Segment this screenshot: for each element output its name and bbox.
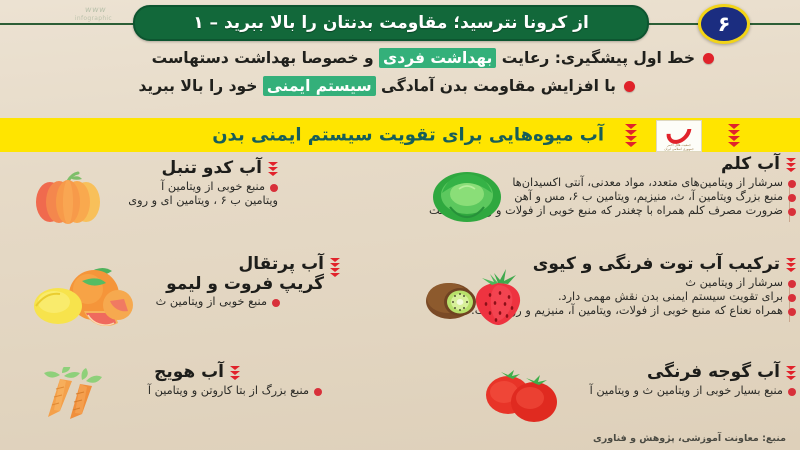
intro-bullet-1-text: خط اول پیشگیری: رعایت بهداشت فردی و خصوص… [152,49,695,67]
orange-grapefruit-lemon-illustration [22,261,142,335]
left-column: آب کدو تنبل منبع خوبی از ویتامین آ ویتام… [0,155,400,425]
section-pumpkin-bullet-2: ویتامین ب ۶ ، ویتامین ای و روی [128,194,278,208]
page-number-badge: ۶ [698,4,750,44]
watermark-line-1: www [84,5,106,14]
chevron-marker-icon [230,366,240,380]
section-tomato: آب گوجه فرنگی منبع بسیار خوبی از ویتامین… [400,363,800,398]
section-kiwi-bullet-2: برای تقویت سیستم ایمنی بدن نقش مهمی دارد… [558,290,783,304]
bullet-dot-icon [788,180,796,188]
section-tomato-title: آب گوجه فرنگی [647,363,780,383]
section-kiwi-title: ترکیب آب توت فرنگی و کیوی [533,255,780,275]
red-crescent-logo: جمعیت هلال احمر جمهوری اسلامی ایران [656,120,702,152]
cabbage-illustration [428,163,506,225]
pumpkin-illustration [28,169,112,227]
bullet-dot-icon [788,388,796,396]
logo-caption-2: جمهوری اسلامی ایران [664,147,694,151]
intro-1-part-a: خط اول پیشگیری: رعایت [496,49,695,67]
bullet-dot-icon [788,294,796,302]
chevron-marker-icon [330,258,340,277]
chevron-marker-icon [268,162,278,176]
section-cabbage: آب کلم سرشار از ویتامین‌های متعدد، مواد … [400,155,800,218]
chevron-marker-icon [786,158,796,172]
chevron-marker-icon [786,258,796,272]
section-citrus-title-line-1: آب پرتقال [166,255,324,275]
tomato-illustration [478,367,564,425]
section-tomato-bullet-1: منبع بسیار خوبی از ویتامین ث و ویتامین آ [590,384,783,398]
intro-2-highlight: سیستم ایمنی [263,76,376,96]
intro-bullet-2: با افزایش مقاومت بدن آمادگی سیستم ایمنی … [0,72,800,100]
section-pumpkin-bullet-1: منبع خوبی از ویتامین آ [161,180,265,194]
intro-bullet-1: خط اول پیشگیری: رعایت بهداشت فردی و خصوص… [0,44,800,72]
chevron-decoration-right [728,118,740,152]
carrot-illustration [30,367,120,423]
section-citrus-bullet-1: منبع خوبی از ویتامین ث [156,295,267,309]
header-banner: از کرونا نترسید؛ مقاومت بدنتان را بالا ب… [133,5,649,41]
intro-1-part-c: و خصوصا بهداشت دستهاست [152,49,379,67]
infographic-canvas: www infographic از کرونا نترسید؛ مقاومت … [0,0,800,450]
bullet-dot-icon [703,53,714,64]
content-area: آب کلم سرشار از ویتامین‌های متعدد، مواد … [0,155,800,425]
intro-2-part-a: با افزایش مقاومت بدن آمادگی [376,77,616,95]
page-title: از کرونا نترسید؛ مقاومت بدنتان را بالا ب… [193,13,589,33]
right-column: آب کلم سرشار از ویتامین‌های متعدد، مواد … [400,155,800,425]
section-pumpkin-title: آب کدو تنبل [162,159,262,179]
bullet-dot-icon [788,208,796,216]
section-citrus: آب پرتقال گریپ فروت و لیمو منبع خوبی از … [0,255,400,309]
bullet-dot-icon [314,388,322,396]
intro-2-part-c: خود را بالا ببرید [138,77,262,95]
list-item: منبع بسیار خوبی از ویتامین ث و ویتامین آ [400,384,796,398]
bullet-dot-icon [270,184,278,192]
intro-1-highlight: بهداشت فردی [379,48,496,68]
section-band: آب میوه‌هایی برای تقویت سیستم ایمنی بدن … [0,118,800,152]
intro-bullet-2-text: با افزایش مقاومت بدن آمادگی سیستم ایمنی … [138,77,616,95]
section-carrot-title: آب هویج [154,363,224,383]
bullet-dot-icon [624,81,635,92]
chevron-marker-icon [786,366,796,380]
band-title: آب میوه‌هایی برای تقویت سیستم ایمنی بدن [212,125,604,146]
page-number-value: ۶ [718,14,731,35]
bullet-dot-icon [788,194,796,202]
watermark-line-2: infographic [75,15,112,22]
bullet-dot-icon [272,299,280,307]
bullet-dot-icon [788,280,796,288]
section-citrus-title-line-2: گریپ فروت و لیمو [166,275,324,295]
bullet-dot-icon [788,308,796,316]
section-cabbage-title: آب کلم [721,155,780,175]
section-cabbage-bullet-1: سرشار از ویتامین‌های متعدد، مواد معدنی، … [512,176,783,190]
section-carrot: آب هویج منبع بزرگ از بتا کاروتن و ویتامی… [0,363,400,398]
section-cabbage-bullet-2: منبع بزرگ ویتامین آ، ث، منیزیم، ویتامین … [514,190,783,204]
chevron-decoration-left [625,118,637,152]
section-pumpkin: آب کدو تنبل منبع خوبی از ویتامین آ ویتام… [0,159,400,208]
section-kiwi-bullet-1: سرشار از ویتامین ث [685,276,783,290]
footer-source: منبع: معاونت آموزشی، پژوهش و فناوری [593,433,786,444]
section-kiwi-strawberry: ترکیب آب توت فرنگی و کیوی سرشار از ویتام… [400,255,800,318]
intro-bullet-list: خط اول پیشگیری: رعایت بهداشت فردی و خصوص… [0,44,800,100]
section-carrot-bullet-1: منبع بزرگ از بتا کاروتن و ویتامین آ [148,384,309,398]
strawberry-kiwi-illustration [420,261,530,327]
